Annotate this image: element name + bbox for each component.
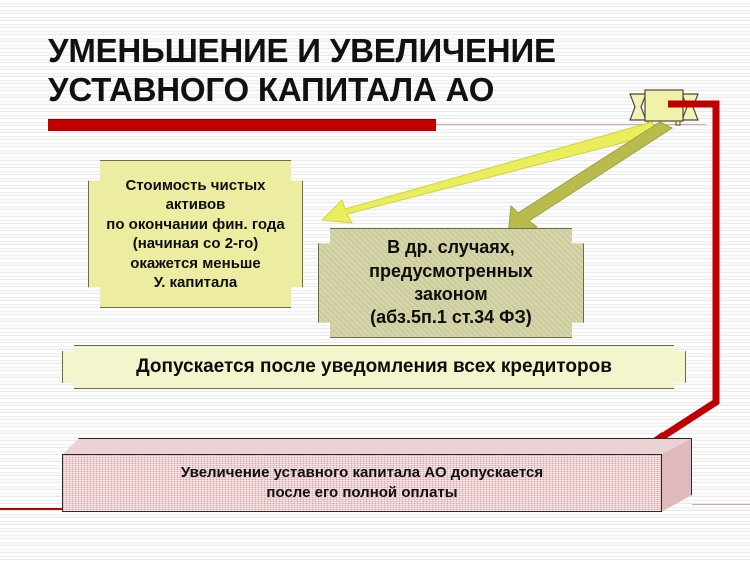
box-creditor-notice: Допускается после уведомления всех креди… (62, 345, 686, 389)
bottom-left-red-line (0, 508, 62, 510)
scroll-banner-icon (628, 88, 700, 126)
arrow-to-net-assets (322, 122, 657, 223)
box-capital-increase: Увеличение уставного капитала АО допуска… (62, 438, 692, 512)
prism-top-face (62, 438, 692, 455)
prism-front-face: Увеличение уставного капитала АО допуска… (62, 454, 662, 512)
arrow-to-increase (648, 104, 716, 446)
title-underline-bar (48, 119, 436, 131)
page-title: УМЕНЬШЕНИЕ И УВЕЛИЧЕНИЕ УСТАВНОГО КАПИТА… (48, 32, 648, 110)
slide-canvas: УМЕНЬШЕНИЕ И УВЕЛИЧЕНИЕ УСТАВНОГО КАПИТА… (0, 0, 750, 562)
box-net-assets: Стоимость чистых активов по окончании фи… (88, 160, 303, 308)
bottom-right-thin-line (692, 504, 750, 505)
box-other-cases: В др. случаях, предусмотренных законом (… (318, 228, 584, 338)
arrow-to-other-cases (508, 122, 672, 236)
